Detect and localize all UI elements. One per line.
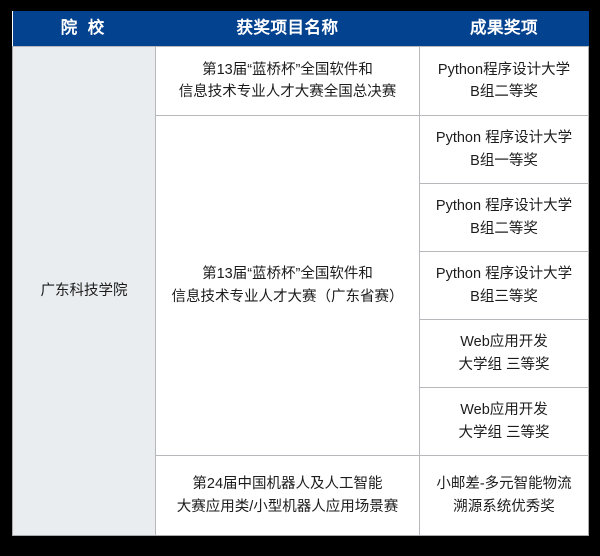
award-2-line-2: B组一等奖 [428, 150, 580, 172]
cell-award-6: Web应用开发 大学组 三等奖 [420, 388, 589, 456]
cell-project-2: 第13届“蓝桥杯”全国软件和 信息技术专业人才大赛（广东省赛） [156, 116, 420, 456]
award-3-line-1: Python 程序设计大学 [428, 195, 580, 217]
cell-award-3: Python 程序设计大学 B组二等奖 [420, 184, 589, 252]
cell-award-1: Python程序设计大学 B组二等奖 [420, 47, 589, 116]
cell-project-1: 第13届“蓝桥杯”全国软件和 信息技术专业人才大赛全国总决赛 [156, 47, 420, 116]
awards-table: 院 校 获奖项目名称 成果奖项 广东科技学院 第13届“蓝桥杯”全国软件和 信息… [12, 11, 589, 536]
project-2-line-1: 第13届“蓝桥杯”全国软件和 [166, 263, 409, 285]
column-header-school: 院 校 [13, 11, 156, 47]
award-3-line-2: B组二等奖 [428, 218, 580, 240]
header-row: 院 校 获奖项目名称 成果奖项 [13, 11, 589, 47]
cell-award-7: 小邮差-多元智能物流 溯源系统优秀奖 [420, 456, 589, 536]
award-4-line-1: Python 程序设计大学 [428, 263, 580, 285]
cell-award-2: Python 程序设计大学 B组一等奖 [420, 116, 589, 184]
table-row: 广东科技学院 第13届“蓝桥杯”全国软件和 信息技术专业人才大赛全国总决赛 Py… [13, 47, 589, 116]
cell-award-5: Web应用开发 大学组 三等奖 [420, 320, 589, 388]
award-1-line-1: Python程序设计大学 [428, 59, 580, 81]
cell-award-4: Python 程序设计大学 B组三等奖 [420, 252, 589, 320]
award-2-line-1: Python 程序设计大学 [428, 127, 580, 149]
page-canvas: 院 校 获奖项目名称 成果奖项 广东科技学院 第13届“蓝桥杯”全国软件和 信息… [0, 0, 600, 556]
column-header-award: 成果奖项 [420, 11, 589, 47]
award-7-line-1: 小邮差-多元智能物流 [428, 473, 580, 495]
cell-project-3: 第24届中国机器人及人工智能 大赛应用类/小型机器人应用场景赛 [156, 456, 420, 536]
award-6-line-1: Web应用开发 [428, 399, 580, 421]
project-1-line-1: 第13届“蓝桥杯”全国软件和 [166, 59, 409, 81]
project-2-line-2: 信息技术专业人才大赛（广东省赛） [166, 286, 409, 308]
cell-school-name: 广东科技学院 [13, 47, 156, 536]
table-header: 院 校 获奖项目名称 成果奖项 [13, 11, 589, 47]
award-5-line-2: 大学组 三等奖 [428, 354, 580, 376]
project-3-line-2: 大赛应用类/小型机器人应用场景赛 [166, 496, 409, 518]
project-3-line-1: 第24届中国机器人及人工智能 [166, 473, 409, 495]
award-6-line-2: 大学组 三等奖 [428, 422, 580, 444]
award-4-line-2: B组三等奖 [428, 286, 580, 308]
project-1-line-2: 信息技术专业人才大赛全国总决赛 [166, 81, 409, 103]
column-header-project: 获奖项目名称 [156, 11, 420, 47]
school-name-text: 广东科技学院 [13, 280, 155, 302]
table-body: 广东科技学院 第13届“蓝桥杯”全国软件和 信息技术专业人才大赛全国总决赛 Py… [13, 47, 589, 536]
award-1-line-2: B组二等奖 [428, 81, 580, 103]
award-5-line-1: Web应用开发 [428, 331, 580, 353]
award-7-line-2: 溯源系统优秀奖 [428, 496, 580, 518]
